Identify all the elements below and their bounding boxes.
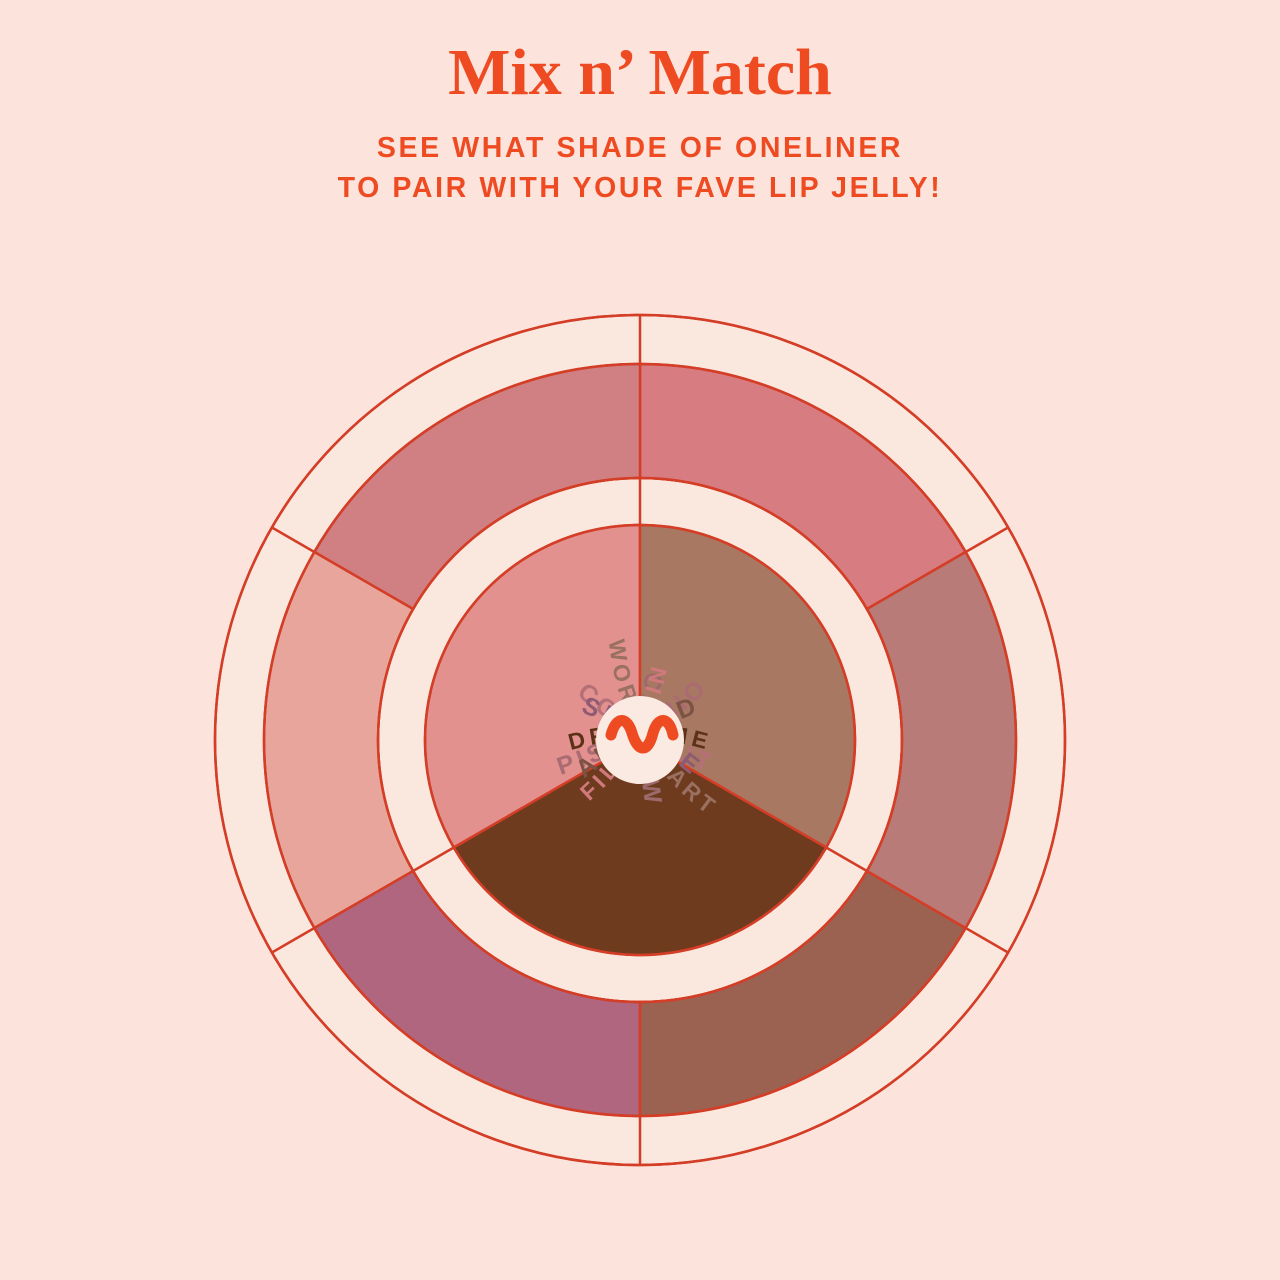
mix-n-match-infographic: Mix n’ Match SEE WHAT SHADE OF ONELINER … [0,0,1280,1280]
wheel-svg: COCONUTPISTACHIOOATSESAMEALMONDCASHEWFIL… [0,0,1280,1280]
mix-match-wheel: COCONUTPISTACHIOOATSESAMEALMONDCASHEWFIL… [0,0,1280,1280]
